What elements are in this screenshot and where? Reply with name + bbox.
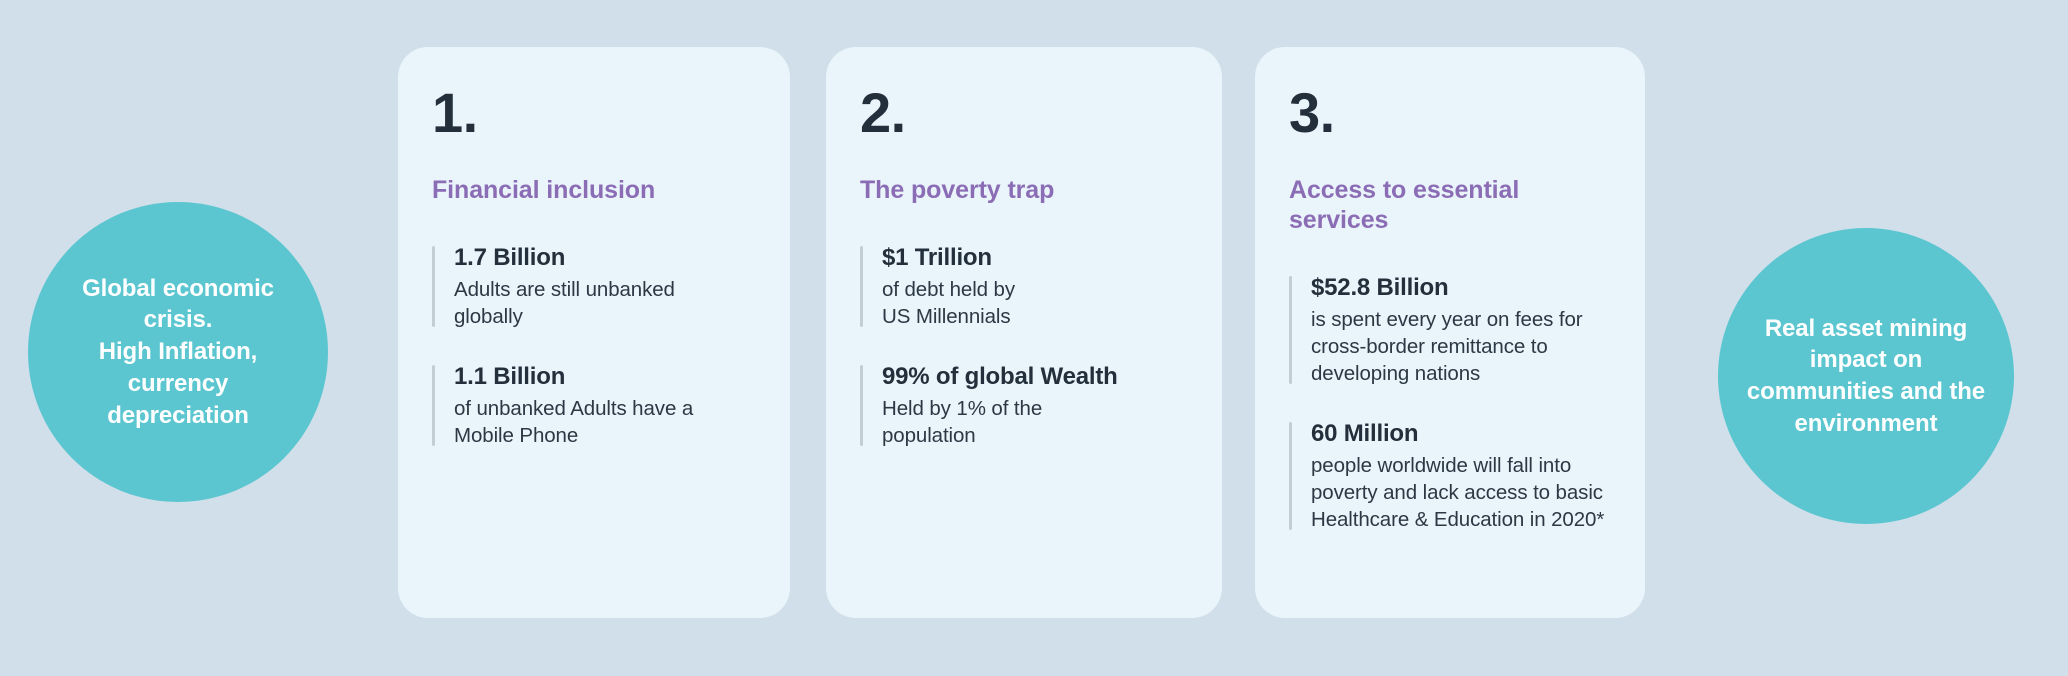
card-number-2: 2. bbox=[860, 85, 1188, 141]
bubble-right-text: Real asset mining impact on communities … bbox=[1742, 313, 1990, 440]
stat-value: $1 Trillion bbox=[882, 243, 1188, 273]
stat-item: $1 Trillion of debt held by US Millennia… bbox=[860, 243, 1188, 330]
card-access-to-essential-services: 3. Access to essential services $52.8 Bi… bbox=[1255, 47, 1645, 618]
stat-accent-bar bbox=[1289, 422, 1292, 530]
card-subtitle-1: Financial inclusion bbox=[432, 175, 756, 205]
stat-item: 60 Million people worldwide will fall in… bbox=[1289, 419, 1611, 533]
stat-description: people worldwide will fall into poverty … bbox=[1311, 452, 1611, 533]
bubble-right-real-asset-mining: Real asset mining impact on communities … bbox=[1718, 228, 2014, 524]
stat-accent-bar bbox=[860, 365, 863, 446]
stat-accent-bar bbox=[860, 246, 863, 327]
stat-list-3: $52.8 Billion is spent every year on fee… bbox=[1289, 273, 1611, 533]
card-subtitle-3: Access to essential services bbox=[1289, 175, 1611, 235]
stat-accent-bar bbox=[432, 365, 435, 446]
stat-value: 1.1 Billion bbox=[454, 362, 756, 392]
card-number-3: 3. bbox=[1289, 85, 1611, 141]
stat-description: is spent every year on fees for cross-bo… bbox=[1311, 306, 1611, 387]
infographic-canvas: Global economic crisis. High Inflation, … bbox=[0, 0, 2068, 676]
card-subtitle-2: The poverty trap bbox=[860, 175, 1188, 205]
bubble-left-text: Global economic crisis. High Inflation, … bbox=[63, 273, 293, 431]
stat-item: 1.7 Billion Adults are still unbanked gl… bbox=[432, 243, 756, 330]
stat-description: of debt held by US Millennials bbox=[882, 276, 1188, 330]
card-number-1: 1. bbox=[432, 85, 756, 141]
card-poverty-trap: 2. The poverty trap $1 Trillion of debt … bbox=[826, 47, 1222, 618]
card-financial-inclusion: 1. Financial inclusion 1.7 Billion Adult… bbox=[398, 47, 790, 618]
stat-value: $52.8 Billion bbox=[1311, 273, 1611, 303]
stat-description: Held by 1% of the population bbox=[882, 395, 1188, 449]
stat-value: 60 Million bbox=[1311, 419, 1611, 449]
stat-item: 1.1 Billion of unbanked Adults have a Mo… bbox=[432, 362, 756, 449]
stat-list-2: $1 Trillion of debt held by US Millennia… bbox=[860, 243, 1188, 449]
stat-description: Adults are still unbanked globally bbox=[454, 276, 756, 330]
stat-value: 99% of global Wealth bbox=[882, 362, 1188, 392]
bubble-left-global-crisis: Global economic crisis. High Inflation, … bbox=[28, 202, 328, 502]
stat-description: of unbanked Adults have a Mobile Phone bbox=[454, 395, 756, 449]
stat-accent-bar bbox=[1289, 276, 1292, 384]
stat-item: 99% of global Wealth Held by 1% of the p… bbox=[860, 362, 1188, 449]
stat-item: $52.8 Billion is spent every year on fee… bbox=[1289, 273, 1611, 387]
stat-accent-bar bbox=[432, 246, 435, 327]
stat-list-1: 1.7 Billion Adults are still unbanked gl… bbox=[432, 243, 756, 449]
stat-value: 1.7 Billion bbox=[454, 243, 756, 273]
